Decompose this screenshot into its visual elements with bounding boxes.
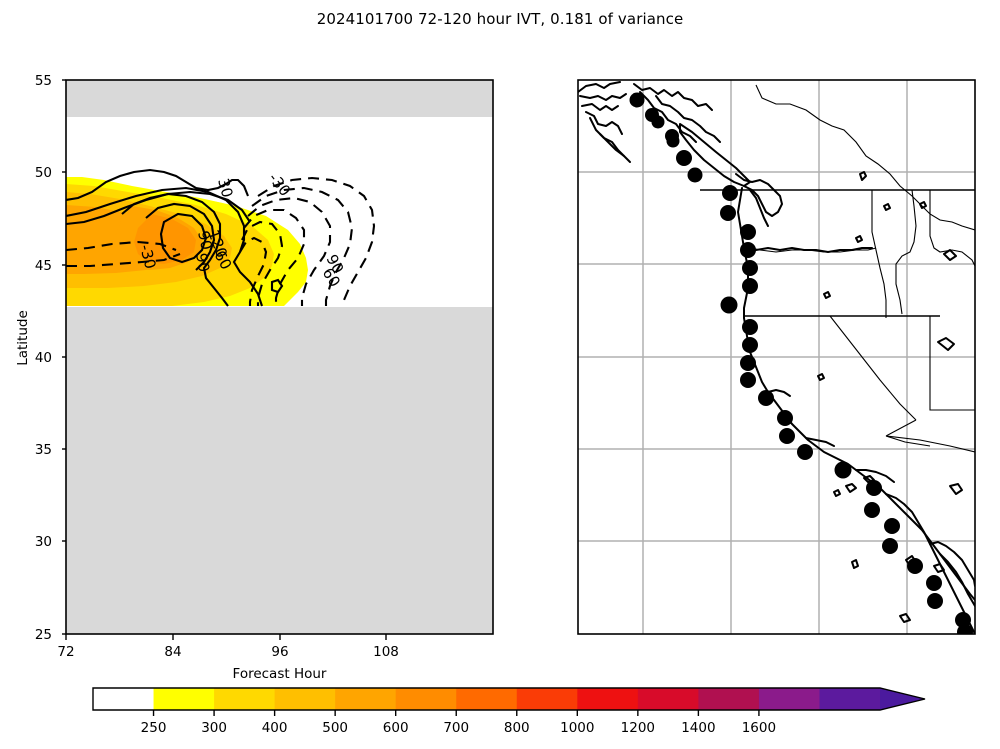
colorbar-tick-label: 300: [184, 720, 244, 736]
colorbar-ticks: [154, 710, 759, 716]
colorbar-tick-label: 400: [245, 720, 305, 736]
colorbar-tick-label: 1200: [608, 720, 668, 736]
colorbar-segment: [396, 688, 457, 710]
colorbar-tick-label: 250: [124, 720, 184, 736]
colorbar-canvas[interactable]: [0, 0, 1000, 749]
colorbar-segment: [577, 688, 638, 710]
colorbar-segment: [154, 688, 215, 710]
colorbar-tick-label: 500: [305, 720, 365, 736]
colorbar-segment: [93, 688, 154, 710]
colorbar-segment: [456, 688, 517, 710]
figure-root: 2024101700 72-120 hour IVT, 0.181 of var…: [0, 0, 1000, 749]
colorbar-segment: [275, 688, 336, 710]
colorbar-tick-label: 1600: [729, 720, 789, 736]
colorbar-segment: [638, 688, 699, 710]
colorbar-tick-label: 800: [487, 720, 547, 736]
colorbar-segment: [759, 688, 820, 710]
colorbar-segment: [517, 688, 578, 710]
colorbar-tick-label: 1400: [668, 720, 728, 736]
colorbar-extend-arrow: [880, 688, 925, 710]
colorbar-tick-label: 600: [366, 720, 426, 736]
colorbar-segment: [214, 688, 275, 710]
colorbar-segment: [335, 688, 396, 710]
colorbar-segment: [819, 688, 880, 710]
colorbar-tick-label: 1000: [547, 720, 607, 736]
colorbar-segment: [698, 688, 759, 710]
colorbar-segments[interactable]: [93, 688, 925, 710]
colorbar-tick-label: 700: [426, 720, 486, 736]
